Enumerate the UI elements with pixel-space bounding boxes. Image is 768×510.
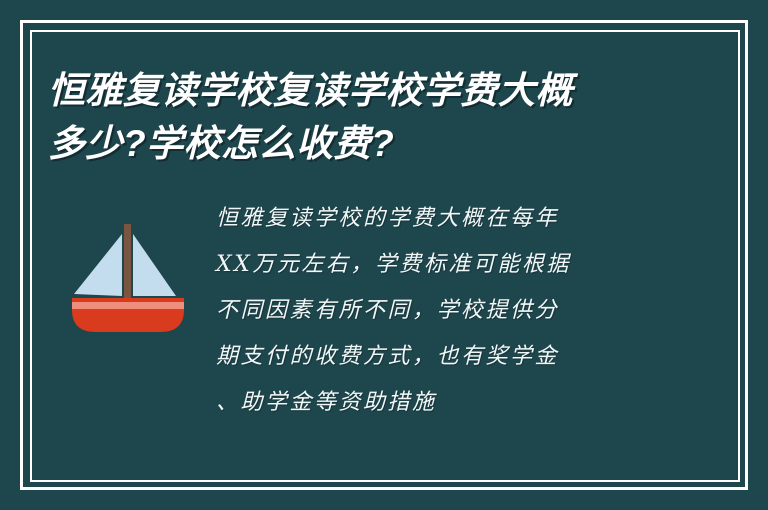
sailboat-icon bbox=[64, 210, 192, 338]
illustration-container bbox=[48, 196, 208, 338]
body-line-5: 、助学金等资助措施 bbox=[216, 380, 704, 426]
content-row: 恒雅复读学校的学费大概在每年 XX万元左右，学费标准可能根据 不同因素有所不同，… bbox=[48, 196, 708, 426]
body-line-2: XX万元左右，学费标准可能根据 bbox=[216, 242, 704, 288]
page-title: 恒雅复读学校复读学校学费大概 多少?学校怎么收费? bbox=[48, 64, 668, 170]
body-line-3: 不同因素有所不同，学校提供分 bbox=[216, 288, 704, 334]
poster-canvas: 恒雅复读学校复读学校学费大概 多少?学校怎么收费? 恒雅复读学校的学费大概在每年… bbox=[0, 0, 768, 510]
body-line-4: 期支付的收费方式，也有奖学金 bbox=[216, 334, 704, 380]
body-paragraph: 恒雅复读学校的学费大概在每年 XX万元左右，学费标准可能根据 不同因素有所不同，… bbox=[208, 196, 708, 426]
title-line-1: 恒雅复读学校复读学校学费大概 bbox=[48, 64, 668, 117]
body-line-1: 恒雅复读学校的学费大概在每年 bbox=[216, 196, 704, 242]
title-line-2: 多少?学校怎么收费? bbox=[48, 117, 668, 170]
